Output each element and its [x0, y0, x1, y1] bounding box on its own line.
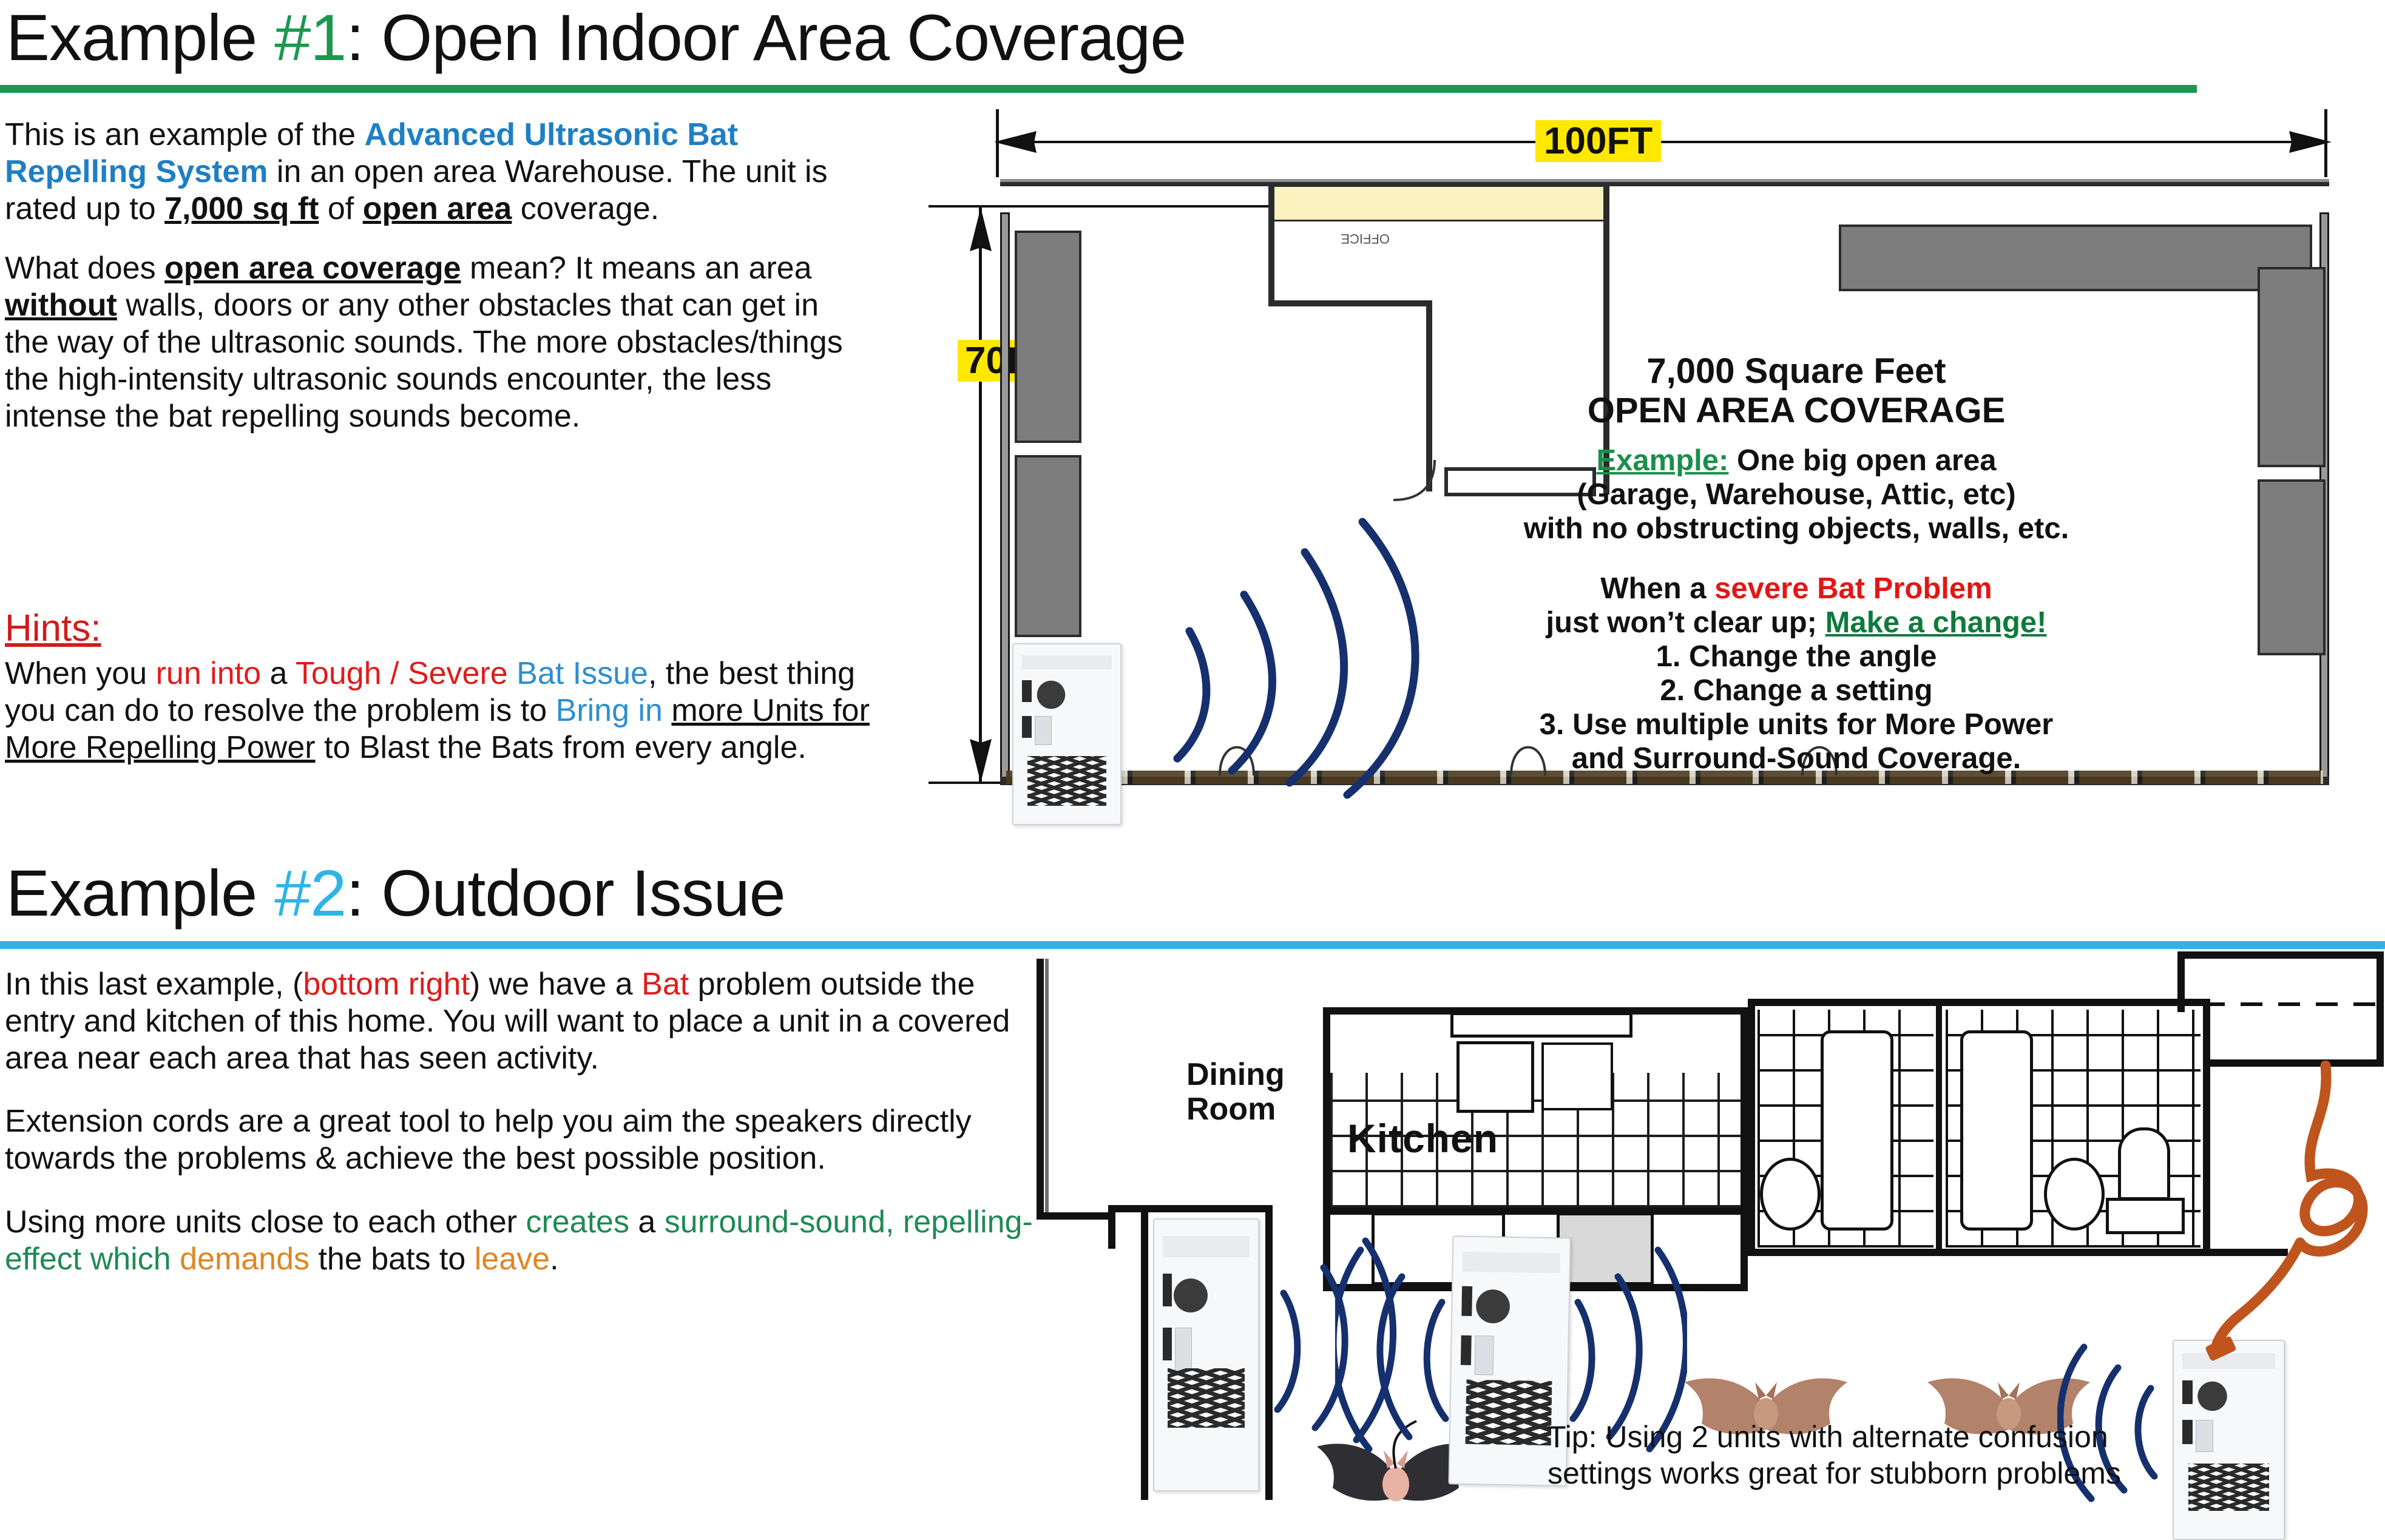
phrase-leave: leave — [475, 1241, 550, 1277]
text-run: When you — [5, 656, 156, 691]
unit-slider-switch[interactable] — [1175, 1328, 1191, 1371]
term-open-area-coverage: open area coverage — [164, 251, 461, 286]
text-run: mean? It means an area — [461, 251, 812, 286]
house-wall-dining-bottom — [1108, 1205, 1272, 1212]
toilet-1 — [1760, 1158, 1821, 1231]
text-run: of — [319, 191, 362, 226]
phrase-bat-issue: Bat Issue — [516, 656, 648, 691]
paragraph-outdoor-intro: In this last example, (bottom right) we … — [5, 966, 1037, 1076]
section-2-heading-prefix: Example — [6, 856, 274, 930]
callout-headline-2: OPEN AREA COVERAGE — [1250, 391, 2343, 431]
unit-button-1[interactable] — [1462, 1286, 1473, 1316]
house-wall-porch-left — [2177, 951, 2185, 1012]
term-open-area: open area — [363, 191, 512, 226]
warehouse-wall-left — [1000, 212, 1010, 783]
unit-button-2[interactable] — [1022, 716, 1032, 738]
house-floorplan-diagram: Dining Room Kitchen — [1032, 951, 2385, 1500]
section-1-body-text: This is an example of the Advanced Ultra… — [5, 117, 867, 458]
callout-example-line-1: Example: One big open area — [1250, 444, 2343, 478]
tip-line-1: Tip: Using 2 units with alternate confus… — [1548, 1419, 2385, 1455]
callout-severe-line-2: just won’t clear up; Make a change! — [1250, 606, 2343, 640]
hints-heading: Hints: — [5, 607, 101, 650]
bathtub-2 — [1960, 1030, 2033, 1231]
callout-severe-line-1: When a severe Bat Problem — [1250, 572, 2343, 606]
unit-speaker-icon — [1173, 1274, 1208, 1317]
tip-callout: Tip: Using 2 units with alternate confus… — [1548, 1419, 2385, 1491]
porch-dashed-line — [2203, 1002, 2379, 1006]
paragraph-intro: This is an example of the Advanced Ultra… — [5, 117, 867, 227]
section-1-heading-suffix: : Open Indoor Area Coverage — [346, 1, 1186, 74]
house-wall-bath-left — [1748, 999, 1755, 1254]
arrow-right-icon — [2264, 129, 2336, 157]
dimension-line-vertical — [979, 206, 982, 783]
warehouse-shelf-left-2 — [1015, 455, 1081, 637]
text-run: the bats to — [310, 1241, 475, 1277]
paragraph-surround-sound: Using more units close to each other cre… — [5, 1204, 1037, 1278]
text-run: When a — [1600, 572, 1714, 605]
dimension-label-width: 100FT — [1535, 120, 1661, 162]
warehouse-callout-text: 7,000 Square Feet OPEN AREA COVERAGE Exa… — [1250, 352, 2343, 776]
callout-step-2: 2. Change a setting — [1250, 674, 2343, 708]
bathtub-1 — [1821, 1030, 1893, 1231]
unit-vent-grille — [1027, 756, 1106, 806]
arrow-up-icon — [965, 204, 996, 277]
example-label: Example: — [1597, 444, 1729, 477]
phrase-severe-bat-problem: severe Bat Problem — [1714, 572, 1992, 605]
paragraph-extension-cords: Extension cords are a great tool to help… — [5, 1103, 1037, 1177]
text-run: a — [629, 1204, 665, 1240]
text-run: walls, doors or any other obstacles that… — [5, 288, 843, 433]
unit-slider-switch[interactable] — [1475, 1336, 1494, 1375]
unit-vent-grille — [1168, 1368, 1245, 1428]
phrase-make-a-change: Make a change! — [1825, 606, 2047, 639]
phrase-run-into: run into — [156, 656, 261, 691]
unit-slider-switch[interactable] — [1035, 716, 1052, 745]
section-1-heading-number: #1 — [274, 1, 346, 74]
unit-button-1[interactable] — [1022, 680, 1032, 702]
toilet-2 — [2044, 1158, 2105, 1231]
unit-speaker-icon — [1033, 680, 1069, 709]
warehouse-office-label: OFFICE — [1293, 226, 1390, 246]
ultrasonic-unit-device — [1012, 643, 1121, 825]
text-run: In this last example, ( — [5, 967, 303, 1002]
warehouse-shelf-top — [1839, 225, 2312, 291]
text-run: What does — [5, 251, 164, 286]
section-2-heading: Example #2: Outdoor Issue — [6, 860, 1341, 933]
warehouse-office-wall-left — [1268, 185, 1274, 306]
unit-vent-grille — [1465, 1380, 1552, 1445]
section-2-heading-suffix: : Outdoor Issue — [346, 856, 785, 930]
callout-headline-1: 7,000 Square Feet — [1250, 352, 2343, 391]
paragraph-definition: What does open area coverage mean? It me… — [5, 250, 867, 434]
house-wall-bath-divider — [1936, 1006, 1942, 1249]
warehouse-office-wall-bottom — [1268, 300, 1432, 306]
callout-example-line-2: (Garage, Warehouse, Attic, etc) — [1250, 478, 2343, 512]
rating-value: 7,000 sq ft — [164, 191, 319, 226]
section-2-body-text: In this last example, (bottom right) we … — [5, 966, 1037, 1305]
arrow-down-icon — [965, 714, 996, 786]
ultrasonic-unit-entry — [1153, 1218, 1259, 1491]
phrase-demands: demands — [180, 1241, 310, 1277]
text-run: Using more units close to each other — [5, 1204, 526, 1240]
paragraph-hints: When you run into a Tough / Severe Bat I… — [5, 655, 873, 766]
callout-step-3b: and Surround-Sound Coverage. — [1250, 742, 2343, 776]
vanity-1 — [2106, 1198, 2185, 1234]
unit-speaker-icon — [1473, 1286, 1513, 1326]
warehouse-floorplan-diagram: 100FT 70FT OFFICE — [868, 91, 2385, 849]
arrow-left-icon — [989, 129, 1062, 157]
unit-top-strip — [1022, 655, 1112, 670]
house-wall-entry-jog-v — [1108, 1212, 1115, 1249]
unit-button-1[interactable] — [1163, 1274, 1172, 1306]
phrase-bring-in: Bring in — [556, 693, 663, 728]
house-wall-kitchen-lowerright — [1741, 1206, 1748, 1291]
kitchen-counter-upper — [1450, 1012, 1632, 1038]
sink-1 — [2118, 1127, 2170, 1200]
text-run: a — [261, 656, 296, 691]
room-label-dining: Dining Room — [1186, 1058, 1285, 1127]
text-run: This is an example of the — [5, 117, 365, 152]
section-1-heading: Example #1: Open Indoor Area Coverage — [6, 5, 1463, 78]
section-2-divider — [0, 941, 2385, 949]
text-run: ) we have a — [470, 967, 641, 1002]
text-run — [508, 656, 516, 691]
house-wall-outer-left — [1037, 959, 1044, 1220]
unit-button-1[interactable] — [2182, 1380, 2192, 1404]
text-run: just won’t clear up; — [1546, 606, 1825, 639]
kitchen-appliance-oven — [1456, 1041, 1534, 1113]
unit-button-2[interactable] — [1163, 1328, 1172, 1360]
house-wall-kitchen-left — [1323, 1007, 1330, 1215]
house-wall-porch-right — [2377, 951, 2384, 1067]
phrase-bottom-right: bottom right — [303, 967, 470, 1002]
house-wall-bath-top — [1748, 999, 2209, 1006]
ultrasonic-wave-icon-kitchen-left — [1335, 1237, 1463, 1479]
house-wall-entry-jog — [1037, 1212, 1115, 1220]
warehouse-office-counter — [1268, 185, 1608, 221]
section-1-heading-prefix: Example — [6, 1, 274, 74]
unit-top-strip — [1163, 1236, 1250, 1258]
warehouse-wall-top-inner — [1000, 179, 2329, 182]
warehouse-shelf-left-1 — [1015, 231, 1081, 443]
callout-example-line-3: with no obstructing objects, walls, etc. — [1250, 512, 2343, 546]
text-run — [171, 1241, 180, 1277]
text-run: One big open area — [1728, 444, 1996, 477]
extension-cord-icon — [2203, 1061, 2385, 1400]
text-run: . — [550, 1241, 558, 1277]
house-wall-outer-left-inner — [1045, 959, 1049, 1220]
kitchen-appliance-fridge — [1541, 1042, 1613, 1110]
tip-line-2: settings works great for stubborn proble… — [1548, 1455, 2385, 1491]
text-run: to Blast the Bats from every angle. — [316, 730, 807, 765]
text-run: coverage. — [512, 191, 659, 226]
house-wall-kitchen-right — [1741, 1007, 1748, 1207]
phrase-bat: Bat — [641, 967, 689, 1002]
text-run — [663, 693, 671, 728]
phrase-creates: creates — [526, 1204, 629, 1240]
section-2-heading-number: #2 — [274, 856, 346, 930]
callout-step-1: 1. Change the angle — [1250, 640, 2343, 674]
house-wall-porch-top — [2177, 951, 2384, 959]
unit-top-strip — [1463, 1252, 1560, 1273]
term-without: without — [5, 288, 117, 323]
phrase-tough-severe: Tough / Severe — [296, 656, 508, 691]
callout-step-3: 3. Use multiple units for More Power — [1250, 708, 2343, 742]
hints-body-text: When you run into a Tough / Severe Bat I… — [5, 655, 873, 766]
dimension-line-horizontal — [998, 141, 2327, 143]
room-label-kitchen: Kitchen — [1347, 1115, 1498, 1161]
house-wall-entry-left — [1141, 1205, 1148, 1500]
